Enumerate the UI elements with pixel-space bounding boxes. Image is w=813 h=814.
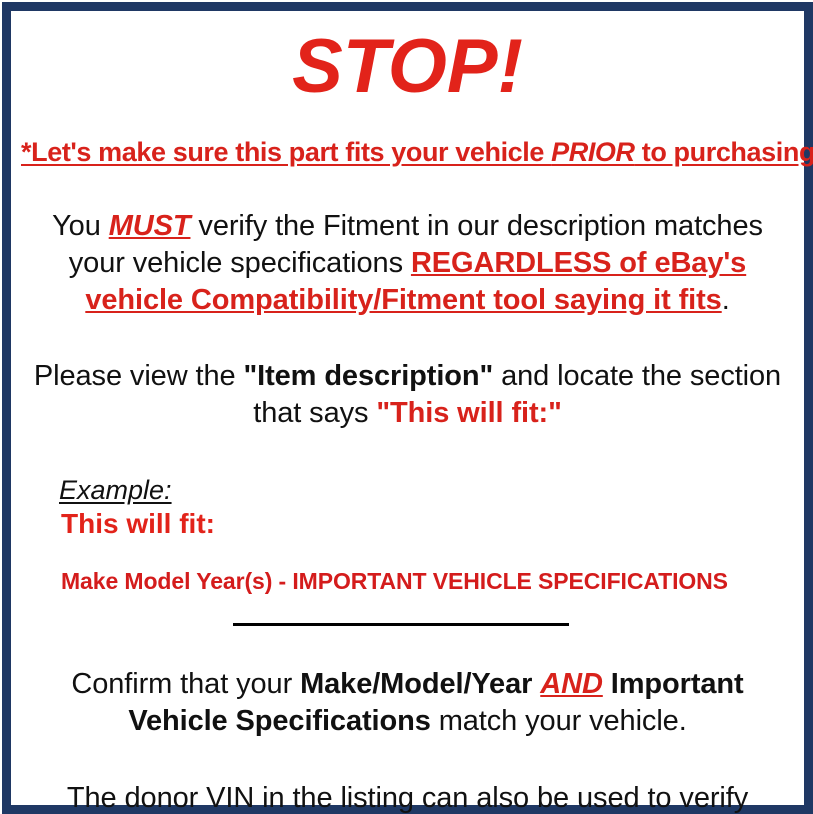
section-divider bbox=[233, 623, 569, 626]
item-description-emphasis: "Item description" bbox=[243, 360, 493, 392]
confirm-space2 bbox=[603, 668, 611, 700]
example-spec-line: Make Model Year(s) - IMPORTANT VEHICLE S… bbox=[59, 568, 794, 595]
paragraph-must-verify: You MUST verify the Fitment in our descr… bbox=[21, 208, 794, 318]
subtitle-tail: to purchasing* bbox=[635, 137, 813, 167]
view-part1: Please view the bbox=[34, 360, 244, 392]
example-fit-heading: This will fit: bbox=[59, 508, 794, 540]
must-part3: . bbox=[722, 284, 730, 316]
example-label: Example: bbox=[59, 476, 172, 506]
confirm-part1: Confirm that your bbox=[71, 668, 300, 700]
subtitle-lead: *Let's make sure this part fits your veh… bbox=[21, 137, 551, 167]
paragraph-donor-vin: The donor VIN in the listing can also be… bbox=[21, 780, 794, 814]
notice-border-frame: STOP! *Let's make sure this part fits yo… bbox=[2, 2, 813, 814]
page-title: STOP! bbox=[21, 29, 794, 105]
paragraph-view-description: Please view the "Item description" and l… bbox=[21, 358, 794, 432]
subtitle-emphasis-prior: PRIOR bbox=[551, 137, 635, 167]
paragraph-confirm: Confirm that your Make/Model/Year AND Im… bbox=[21, 666, 794, 740]
this-will-fit-emphasis: "This will fit:" bbox=[376, 397, 561, 429]
make-model-year-emphasis: Make/Model/Year bbox=[300, 668, 532, 700]
and-emphasis: AND bbox=[540, 668, 603, 700]
must-emphasis: MUST bbox=[109, 210, 191, 242]
must-part1: You bbox=[52, 210, 109, 242]
subtitle-banner: *Let's make sure this part fits your veh… bbox=[21, 137, 794, 168]
notice-content: STOP! *Let's make sure this part fits yo… bbox=[11, 11, 804, 805]
example-block: Example: This will fit: Make Model Year(… bbox=[21, 476, 794, 595]
confirm-part2: match your vehicle. bbox=[431, 705, 687, 737]
section-divider-wrap bbox=[21, 623, 794, 626]
fitment-notice-image: STOP! *Let's make sure this part fits yo… bbox=[0, 0, 813, 814]
